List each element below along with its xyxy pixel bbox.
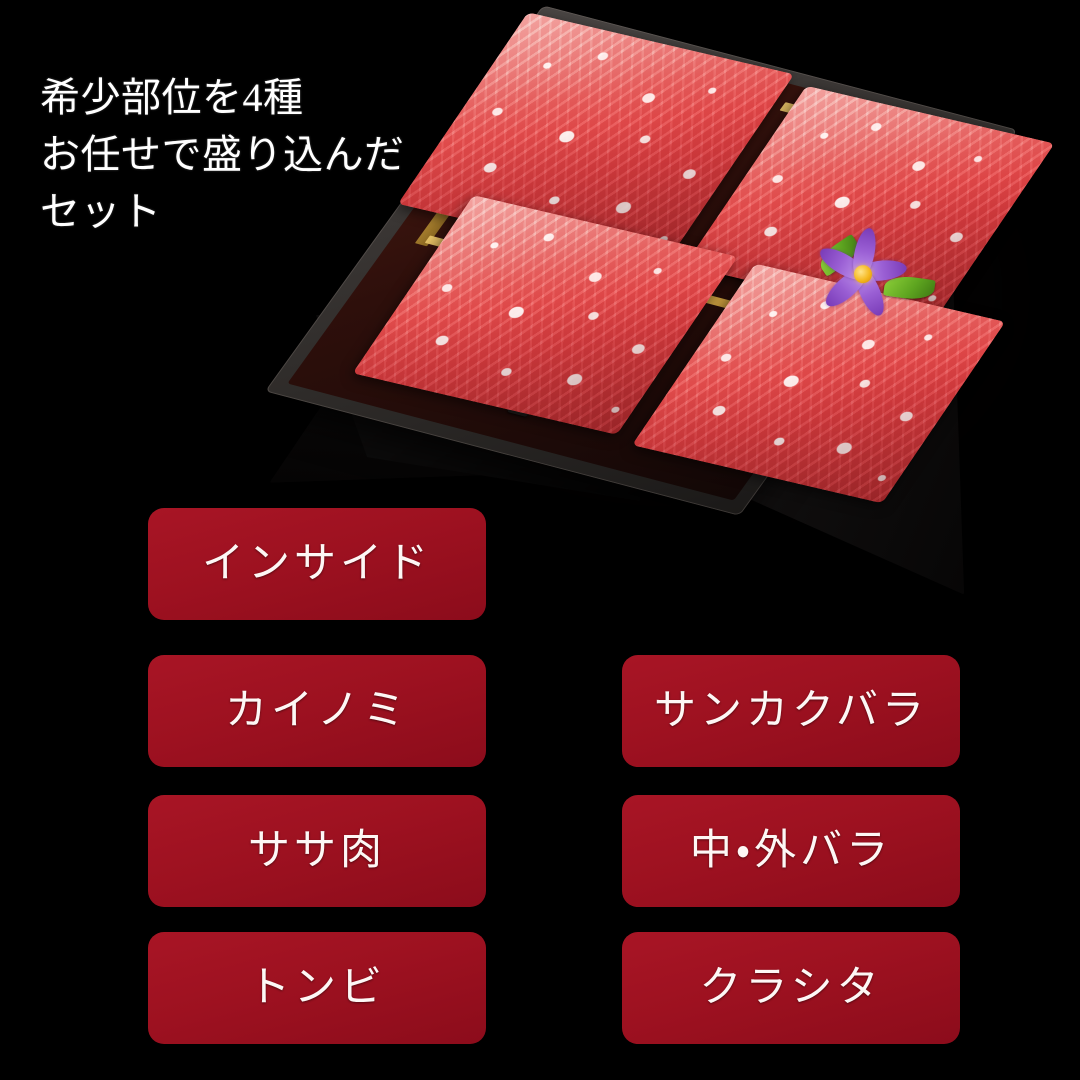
promo-canvas: 希少部位を4種 お任せで盛り込んだ セット インサイド カイノミ ササ肉 トンビ… (0, 0, 1080, 1080)
badge-sankakubara[interactable]: サンカクバラ (622, 655, 960, 767)
badge-kainomi[interactable]: カイノミ (148, 655, 486, 767)
badge-label: クラシタ (699, 967, 882, 1009)
badge-label: インサイド (202, 543, 432, 585)
badge-kurashita[interactable]: クラシタ (622, 932, 960, 1044)
badge-label: トンビ (248, 967, 386, 1009)
badge-label: サンカクバラ (654, 690, 928, 732)
badge-label: カイノミ (225, 690, 409, 732)
badge-inside[interactable]: インサイド (148, 508, 486, 620)
badge-label: 中・外バラ (690, 830, 892, 872)
badge-label: ササ肉 (248, 830, 386, 872)
cut-name-badge-grid: インサイド カイノミ ササ肉 トンビ サンカクバラ 中・外バラ クラシタ (148, 508, 962, 1048)
badge-naka-soto-bara[interactable]: 中・外バラ (622, 795, 960, 907)
headline-text: 希少部位を4種 お任せで盛り込んだ セット (40, 70, 500, 240)
bellflower-garnish-icon (810, 222, 941, 341)
badge-sasaniku[interactable]: ササ肉 (148, 795, 486, 907)
badge-tonbi[interactable]: トンビ (148, 932, 486, 1044)
